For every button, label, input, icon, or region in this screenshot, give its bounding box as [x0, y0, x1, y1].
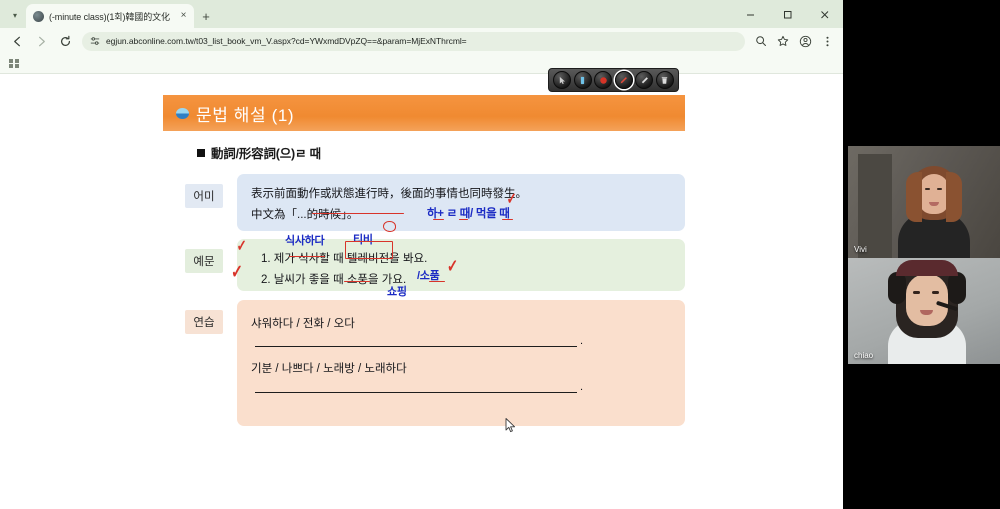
video-panel: Vivi chiao Yoni ENJOY LIFE	[843, 0, 1000, 509]
square-bullet-icon	[197, 149, 205, 157]
bookmarks-bar	[0, 54, 843, 74]
tune-icon[interactable]	[90, 36, 100, 46]
globe-icon	[33, 11, 44, 22]
eye-right	[937, 188, 942, 190]
answer-blank-1[interactable]: .	[251, 335, 671, 347]
participant-name: chiao	[854, 351, 873, 360]
ink-check-mark: ✓	[447, 256, 458, 277]
cursor-tool-button[interactable]	[553, 71, 571, 89]
tab-strip: ▾ (-minute class)(1회)韓國的文化 × +	[0, 0, 843, 28]
browser-window: ▾ (-minute class)(1회)韓國的文化 × +	[0, 0, 843, 509]
annotation-toolbar	[548, 68, 679, 92]
star-icon[interactable]	[773, 31, 793, 51]
row-label-yeonseup: 연습	[185, 310, 223, 334]
minimize-icon[interactable]	[732, 0, 769, 28]
face-skin	[906, 274, 948, 326]
ink-underline	[289, 256, 325, 257]
lesson-slide: 문법 해설 (1) 動詞/形容詞(으)ㄹ 때 어미 表示前面動作或狀態進行時，後…	[163, 95, 685, 484]
ink-underline	[433, 219, 444, 220]
ink-underline	[459, 219, 468, 220]
page-content: 문법 해설 (1) 動詞/形容詞(으)ㄹ 때 어미 表示前面動作或狀態進行時，後…	[0, 74, 843, 509]
eye-right	[932, 291, 939, 294]
url-text: egjun.abconline.com.tw/t03_list_book_vm_…	[106, 36, 467, 46]
row-line: 1. 제가 식사할 때 텔레비전을 봐요.	[251, 249, 671, 270]
slide-subtitle: 動詞/形容詞(으)ㄹ 때	[197, 143, 685, 162]
video-feed	[848, 258, 1000, 364]
row-body-yemun: 1. 제가 식사할 때 텔레비전을 봐요. 2. 날씨가 좋을 때 소풍을 가요…	[237, 239, 685, 291]
back-arrow-icon[interactable]	[6, 30, 28, 52]
search-icon[interactable]	[751, 31, 771, 51]
row-label-yemun: 예문	[185, 249, 223, 273]
ink-underline	[312, 213, 404, 214]
face-skin	[919, 174, 949, 214]
ink-underline	[344, 281, 370, 282]
bullet-icon	[176, 108, 189, 119]
hair-side-right	[946, 172, 962, 222]
headphone-band	[896, 260, 958, 276]
close-icon[interactable]	[806, 0, 843, 28]
highlight-tool-button[interactable]	[574, 71, 592, 89]
answer-blank-2[interactable]: .	[251, 381, 671, 393]
maximize-icon[interactable]	[769, 0, 806, 28]
row-line: 기분 / 나쁘다 / 노래방 / 노래하다	[251, 359, 671, 380]
row-label-eomi: 어미	[185, 184, 223, 208]
browser-tab[interactable]: (-minute class)(1회)韓國的文化 ×	[26, 4, 194, 28]
participant-name: Vivi	[854, 245, 867, 254]
tab-search-caret-icon[interactable]: ▾	[4, 2, 26, 28]
ink-check-mark: ✓	[237, 236, 247, 256]
pen-tool-button[interactable]	[615, 71, 633, 89]
reload-icon[interactable]	[54, 30, 76, 52]
hair-side-left	[906, 172, 922, 222]
ink-check-mark: ✓	[507, 189, 517, 209]
omnibox-actions	[751, 31, 837, 51]
ink-annotation-5: 쇼핑	[387, 283, 407, 299]
browser-toolbar: egjun.abconline.com.tw/t03_list_book_vm_…	[0, 28, 843, 54]
apps-grid-icon[interactable]	[9, 59, 19, 69]
video-tile-chiao[interactable]: chiao	[848, 258, 1000, 364]
mouse-cursor	[505, 418, 517, 439]
slide-row-eomi: 어미 表示前面動作或狀態進行時，後面的事情也同時發生。 中文為「...的時候」。…	[185, 174, 685, 231]
ink-circle	[383, 221, 396, 232]
video-feed	[848, 146, 1000, 258]
profile-icon[interactable]	[795, 31, 815, 51]
record-tool-button[interactable]	[594, 71, 612, 89]
forward-arrow-icon[interactable]	[30, 30, 52, 52]
slide-row-yemun: 예문 1. 제가 식사할 때 텔레비전을 봐요. 2. 날씨가 좋을 때 소풍을…	[185, 239, 685, 291]
eye-left	[913, 291, 920, 294]
period: .	[580, 335, 583, 347]
eraser-tool-button[interactable]	[635, 71, 653, 89]
eye-left	[925, 188, 930, 190]
row-line: 2. 날씨가 좋을 때 소풍을 가요.	[251, 270, 671, 291]
address-bar[interactable]: egjun.abconline.com.tw/t03_list_book_vm_…	[82, 32, 745, 51]
kebab-menu-icon[interactable]	[817, 31, 837, 51]
slide-header: 문법 해설 (1)	[163, 95, 685, 131]
slide-subtitle-text: 動詞/形容詞(으)ㄹ 때	[211, 147, 321, 161]
headphone-right	[948, 272, 966, 304]
blank-line	[255, 346, 577, 347]
new-tab-button[interactable]: +	[194, 4, 218, 28]
close-icon[interactable]: ×	[178, 11, 189, 21]
background-panel	[858, 154, 892, 258]
ink-underline	[502, 219, 513, 220]
trash-tool-button[interactable]	[656, 71, 674, 89]
row-line: 샤워하다 / 전화 / 오다	[251, 314, 671, 335]
row-line: 表示前面動作或狀態進行時，後面的事情也同時發生。	[251, 184, 671, 205]
ink-underline	[429, 281, 445, 282]
row-body-yeonseup: 쇼핑 샤워하다 / 전화 / 오다 . 기분 / 나쁘다 / 노래방 / 노래하…	[237, 300, 685, 426]
tab-title: (-minute class)(1회)韓國的文化	[49, 10, 173, 23]
blank-line	[255, 392, 577, 393]
row-body-eomi: 表示前面動作或狀態進行時，後面的事情也同時發生。 中文為「...的時候」。 하+…	[237, 174, 685, 231]
slide-title: 문법 해설 (1)	[196, 101, 294, 126]
ink-box-highlight	[345, 241, 393, 259]
window-controls	[732, 0, 843, 28]
period: .	[580, 381, 583, 393]
ink-annotation-2: 식사하다	[285, 232, 324, 248]
headphone-left	[888, 272, 906, 304]
video-tile-vivi[interactable]: Vivi	[848, 146, 1000, 258]
slide-row-yeonseup: 연습 쇼핑 샤워하다 / 전화 / 오다 . 기분 / 나쁘다 / 노래방 / …	[185, 300, 685, 426]
ink-check-mark: ✓	[231, 261, 243, 284]
